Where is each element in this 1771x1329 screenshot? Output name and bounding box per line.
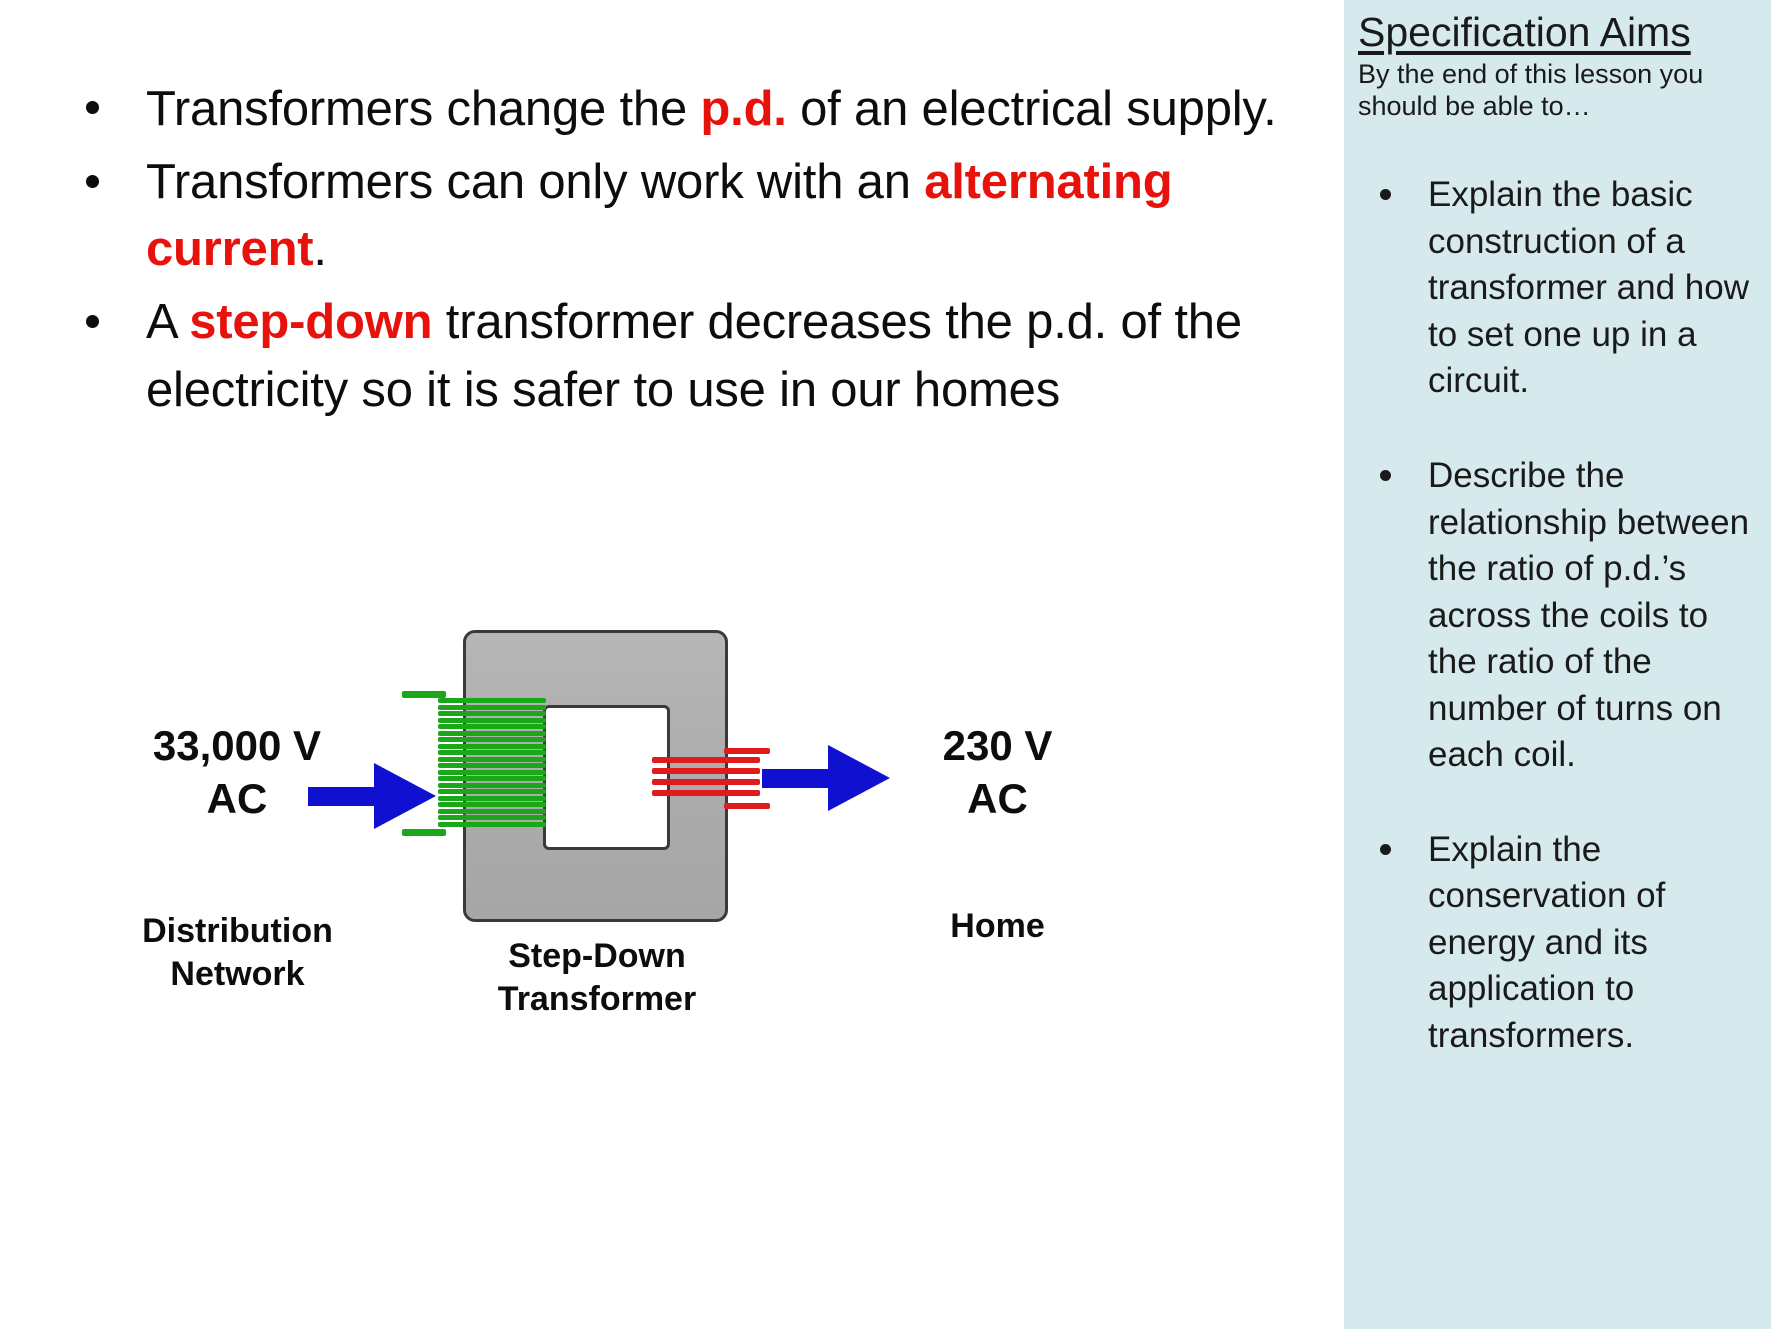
bullet-highlight-pd: p.d. bbox=[700, 82, 786, 136]
primary-coil-lead-top bbox=[402, 691, 446, 698]
aim-item-ratio-relationship: Describe the relationship between the ra… bbox=[1358, 453, 1755, 779]
primary-coil-turn bbox=[438, 718, 546, 723]
output-current-type: AC bbox=[880, 773, 1115, 826]
primary-coil-turn bbox=[438, 776, 546, 781]
primary-coil-turn bbox=[438, 705, 546, 710]
step-down-transformer-caption: Step-Down Transformer bbox=[452, 935, 742, 1020]
main-content-area: Transformers change the p.d. of an elect… bbox=[0, 0, 1344, 1329]
home-caption: Home bbox=[880, 905, 1115, 948]
aim-item-label: Explain the basic construction of a tran… bbox=[1428, 175, 1749, 400]
secondary-coil-turn bbox=[652, 779, 760, 785]
slide-root: Transformers change the p.d. of an elect… bbox=[0, 0, 1771, 1329]
bullet-dot-icon bbox=[86, 101, 99, 114]
bullet-highlight-step-down: step-down bbox=[189, 295, 432, 349]
primary-coil-turn bbox=[438, 737, 546, 742]
bullet-dot-icon bbox=[86, 315, 99, 328]
primary-coil-turn bbox=[438, 763, 546, 768]
transformer-core-window bbox=[543, 705, 670, 850]
primary-coil-turn bbox=[438, 698, 546, 703]
primary-coil-turn bbox=[438, 750, 546, 755]
aim-item-label: Describe the relationship between the ra… bbox=[1428, 456, 1749, 774]
bullet-text-part: of an electrical supply. bbox=[787, 82, 1277, 136]
secondary-coil-turn bbox=[652, 757, 760, 763]
output-voltage-label: 230 V AC bbox=[880, 720, 1115, 825]
sidebar-subtitle: By the end of this lesson you should be … bbox=[1358, 59, 1755, 122]
distribution-network-caption: Distribution Network bbox=[110, 910, 365, 995]
bullet-dot-icon bbox=[86, 175, 99, 188]
main-bullet-list: Transformers change the p.d. of an elect… bbox=[78, 76, 1318, 430]
step-down-transformer-diagram: 33,000 V AC 2 bbox=[0, 600, 1180, 1070]
primary-coil-turn bbox=[438, 744, 546, 749]
bullet-dot-icon bbox=[1380, 189, 1391, 200]
aim-item-conservation-of-energy: Explain the conservation of energy and i… bbox=[1358, 827, 1755, 1060]
primary-coil-turn bbox=[438, 757, 546, 762]
primary-coil-turn bbox=[438, 711, 546, 716]
bullet-alternating-current: Transformers can only work with an alter… bbox=[78, 149, 1318, 283]
output-arrow-icon bbox=[762, 745, 890, 811]
bullet-step-down: A step-down transformer decreases the p.… bbox=[78, 289, 1318, 423]
bullet-text-part: . bbox=[313, 222, 326, 276]
bullet-text-part: Transformers can only work with an bbox=[146, 155, 924, 209]
primary-coil-turn bbox=[438, 802, 546, 807]
primary-coil-turn bbox=[438, 822, 546, 827]
primary-coil-turn bbox=[438, 783, 546, 788]
primary-coil-turn bbox=[438, 789, 546, 794]
output-voltage-value: 230 V bbox=[880, 720, 1115, 773]
secondary-coil-turn bbox=[652, 768, 760, 774]
specification-aims-sidebar: Specification Aims By the end of this le… bbox=[1344, 0, 1771, 1329]
secondary-coil-turn bbox=[652, 790, 760, 796]
primary-coil-turn bbox=[438, 724, 546, 729]
bullet-text-part: A bbox=[146, 295, 189, 349]
primary-coil-turn bbox=[438, 770, 546, 775]
input-arrow-icon bbox=[308, 763, 436, 829]
bullet-text-part: Transformers change the bbox=[146, 82, 700, 136]
primary-coil-turn bbox=[438, 809, 546, 814]
bullet-dot-icon bbox=[1380, 844, 1391, 855]
primary-coil-green bbox=[438, 698, 546, 828]
sidebar-title: Specification Aims bbox=[1358, 10, 1755, 55]
primary-coil-turn bbox=[438, 815, 546, 820]
bullet-transformers-change-pd: Transformers change the p.d. of an elect… bbox=[78, 76, 1318, 143]
bullet-dot-icon bbox=[1380, 470, 1391, 481]
secondary-coil-red bbox=[652, 757, 770, 801]
primary-coil-turn bbox=[438, 731, 546, 736]
arrow-head bbox=[374, 763, 436, 829]
aim-item-construction: Explain the basic construction of a tran… bbox=[1358, 172, 1755, 405]
primary-coil-lead-bottom bbox=[402, 829, 446, 836]
specification-aims-list: Explain the basic construction of a tran… bbox=[1358, 172, 1755, 1059]
aim-item-label: Explain the conservation of energy and i… bbox=[1428, 830, 1665, 1055]
primary-coil-turn bbox=[438, 796, 546, 801]
